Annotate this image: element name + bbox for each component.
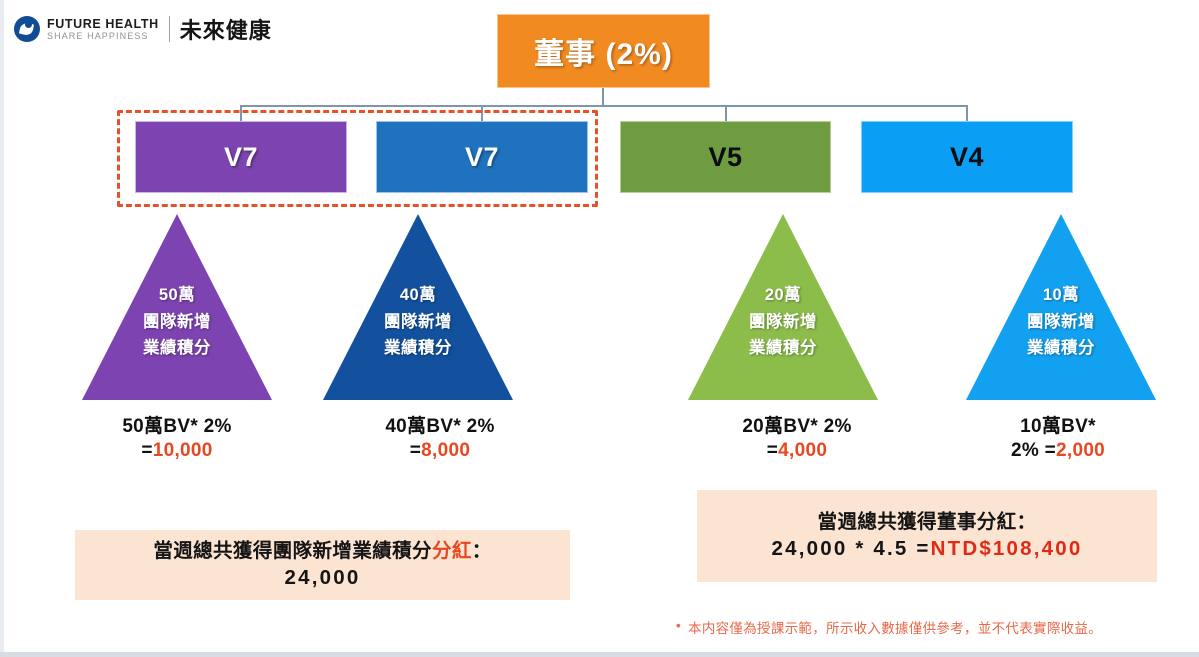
frame-edge-bottom — [0, 652, 1199, 657]
triangle-line2: 團隊新增 — [688, 309, 878, 336]
triangle-line3: 業績積分 — [323, 335, 513, 362]
triangle-text: 40萬 團隊新增 業績積分 — [323, 282, 513, 362]
triangle-amount: 10萬 — [966, 282, 1156, 309]
calculation-result: 4,000 — [778, 440, 827, 461]
summary-team-volume-bonus: 當週總共獲得團隊新增業績積分分紅： 24,000 — [75, 530, 570, 600]
calculation-result-line: 2% =2,000 — [948, 439, 1168, 463]
calculation-equals: = — [410, 440, 421, 461]
disclaimer-footnote: • 本内容僅為授課示範，所示收入數據僅供參考，並不代表實際收益。 — [676, 617, 1176, 637]
calculation-result: 2,000 — [1056, 440, 1105, 461]
calculation-result: 10,000 — [153, 440, 213, 461]
summary-left-title: 當週總共獲得團隊新增業績積分分紅： — [153, 538, 491, 564]
disclaimer-text: 本内容僅為授課示範，所示收入數據僅供參考，並不代表實際收益。 — [688, 617, 1102, 637]
summary-right-calculation: 24,000 * 4.5 =NTD$108,400 — [772, 535, 1083, 564]
node-director-label: 董事 (2%) — [534, 29, 673, 73]
triangle-amount: 20萬 — [688, 282, 878, 309]
calculation-result-line: =10,000 — [62, 439, 292, 463]
triangle-volume-2: 40萬 團隊新增 業績積分 — [323, 214, 513, 400]
calculation-formula: 20萬BV* 2% — [682, 415, 912, 439]
node-level-label: V4 — [950, 142, 984, 173]
summary-left-text-before: 當週總共獲得團隊新增業績積分 — [153, 540, 432, 562]
triangle-line3: 業績積分 — [966, 335, 1156, 362]
triangle-volume-1: 50萬 團隊新增 業績積分 — [82, 214, 272, 400]
summary-left-total: 24,000 — [285, 564, 361, 593]
triangle-amount: 40萬 — [323, 282, 513, 309]
calculation-equals: = — [767, 440, 778, 461]
triangle-line2: 團隊新增 — [966, 309, 1156, 336]
calculation-result-line: =8,000 — [325, 439, 555, 463]
summary-left-highlight: 分紅 — [432, 540, 472, 562]
frame-edge-left — [0, 0, 4, 657]
triangle-volume-4: 10萬 團隊新增 業績積分 — [966, 214, 1156, 400]
brand-name-en: FUTURE HEALTH SHARE HAPPINESS — [47, 17, 159, 41]
node-director[interactable]: 董事 (2%) — [497, 14, 710, 88]
slide-canvas: FUTURE HEALTH SHARE HAPPINESS 未來健康 董事 (2… — [0, 0, 1199, 657]
summary-left-text-after: ： — [472, 540, 492, 562]
calculation-equals: 2% = — [1011, 440, 1056, 461]
triangle-text: 50萬 團隊新增 業績積分 — [82, 282, 272, 362]
logo-divider — [169, 16, 170, 42]
dashed-highlight-selection — [117, 110, 598, 207]
future-health-logo-icon — [14, 16, 40, 42]
summary-right-result: NTD$108,400 — [931, 537, 1083, 560]
connector-horizontal-bus — [240, 105, 967, 107]
triangle-volume-3: 20萬 團隊新增 業績積分 — [688, 214, 878, 400]
brand-name-line1: FUTURE HEALTH — [47, 17, 159, 31]
triangle-amount: 50萬 — [82, 282, 272, 309]
calculation-1: 50萬BV* 2% =10,000 — [62, 415, 292, 464]
summary-right-expression: 24,000 * 4.5 = — [772, 537, 931, 560]
calculation-formula: 10萬BV* — [948, 415, 1168, 439]
calculation-formula: 50萬BV* 2% — [62, 415, 292, 439]
node-level-label: V5 — [708, 142, 742, 173]
calculation-result-line: =4,000 — [682, 439, 912, 463]
brand-name-line2: SHARE HAPPINESS — [47, 31, 159, 41]
triangle-text: 10萬 團隊新增 業績積分 — [966, 282, 1156, 362]
bullet-icon: • — [676, 617, 681, 633]
node-level-v4[interactable]: V4 — [861, 121, 1073, 193]
calculation-3: 20萬BV* 2% =4,000 — [682, 415, 912, 464]
summary-director-bonus: 當週總共獲得董事分紅： 24,000 * 4.5 =NTD$108,400 — [697, 490, 1157, 582]
triangle-line2: 團隊新增 — [323, 309, 513, 336]
calculation-equals: = — [141, 440, 152, 461]
connector-root-stem — [602, 88, 604, 106]
calculation-2: 40萬BV* 2% =8,000 — [325, 415, 555, 464]
brand-name-cn: 未來健康 — [180, 13, 272, 45]
triangle-line2: 團隊新增 — [82, 309, 272, 336]
calculation-formula: 40萬BV* 2% — [325, 415, 555, 439]
summary-right-title: 當週總共獲得董事分紅： — [818, 509, 1037, 535]
triangle-line3: 業績積分 — [82, 335, 272, 362]
node-level-v5[interactable]: V5 — [620, 121, 831, 193]
calculation-4: 10萬BV* 2% =2,000 — [948, 415, 1168, 464]
triangle-text: 20萬 團隊新增 業績積分 — [688, 282, 878, 362]
brand-logo: FUTURE HEALTH SHARE HAPPINESS 未來健康 — [14, 12, 272, 46]
calculation-result: 8,000 — [421, 440, 470, 461]
triangle-line3: 業績積分 — [688, 335, 878, 362]
